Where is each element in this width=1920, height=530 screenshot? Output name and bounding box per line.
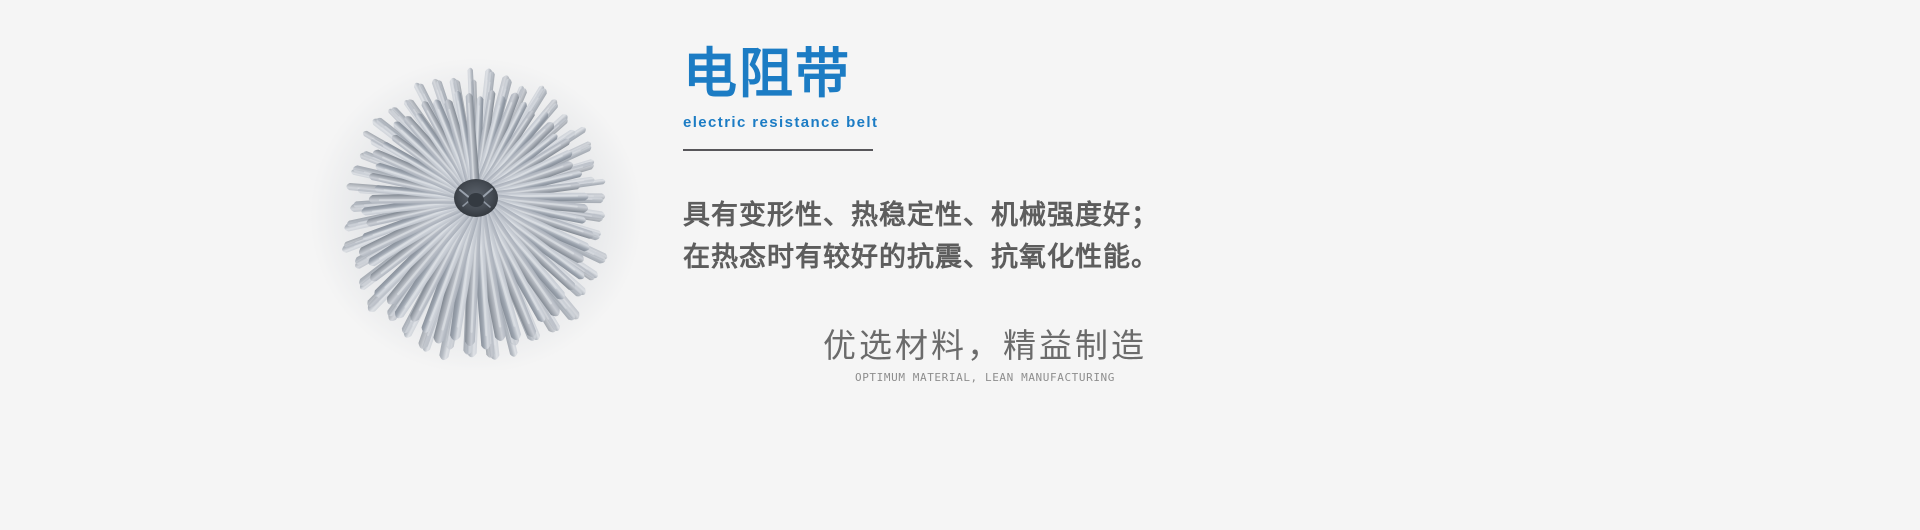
product-image bbox=[300, 40, 650, 370]
product-description: 具有变形性、热稳定性、机械强度好； 在热态时有较好的抗震、抗氧化性能。 bbox=[683, 195, 1383, 279]
heading-block: 电阻带 electric resistance belt 具有变形性、热稳定性、… bbox=[683, 44, 1383, 279]
radial-bundle-svg bbox=[300, 40, 650, 370]
page-title: 电阻带 bbox=[683, 44, 1383, 104]
tagline-english: OPTIMUM MATERIAL, LEAN MANUFACTURING bbox=[775, 371, 1195, 384]
description-line-1: 具有变形性、热稳定性、机械强度好； bbox=[683, 195, 1383, 237]
burst-core bbox=[454, 179, 498, 217]
page-subtitle: electric resistance belt bbox=[683, 114, 1383, 131]
tagline-chinese: 优选材料，精益制造 bbox=[775, 325, 1195, 367]
product-banner: 电阻带 electric resistance belt 具有变形性、热稳定性、… bbox=[0, 0, 1920, 530]
radial-bundle-illustration bbox=[300, 40, 650, 370]
description-line-2: 在热态时有较好的抗震、抗氧化性能。 bbox=[683, 237, 1383, 279]
tagline-block: 优选材料，精益制造 OPTIMUM MATERIAL, LEAN MANUFAC… bbox=[775, 325, 1195, 384]
title-divider bbox=[683, 149, 873, 151]
